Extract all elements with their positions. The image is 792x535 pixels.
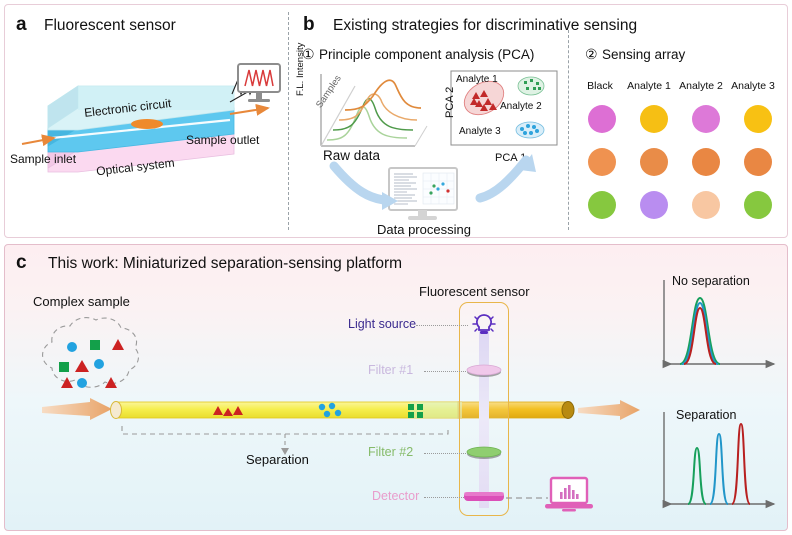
figure-root: a Fluorescent sensor xyxy=(0,0,792,535)
filter-2-label: Filter #2 xyxy=(368,445,413,459)
panel-c-title: This work: Miniaturized separation-sensi… xyxy=(48,255,402,273)
strategy-2-number: ② xyxy=(585,46,598,63)
array-dot-r1c3 xyxy=(744,148,772,176)
array-col-head-0: Black xyxy=(577,80,623,92)
raw-plot-ylabel: F.L. Intensity xyxy=(295,43,306,96)
array-col-head-3: Analyte 3 xyxy=(727,80,779,92)
array-dot-r1c2 xyxy=(692,148,720,176)
panel-b-title: Existing strategies for discriminative s… xyxy=(333,17,637,35)
array-dot-r1c1 xyxy=(640,148,668,176)
array-dot-r0c1 xyxy=(640,105,668,133)
chart-separation-title: Separation xyxy=(676,408,736,422)
panel-b-inner-divider xyxy=(568,30,569,230)
capillary-svg xyxy=(110,398,580,424)
inlet-flow-arrow xyxy=(42,398,112,424)
filter-1-disc-icon xyxy=(464,362,504,380)
array-dot-r0c3 xyxy=(744,105,772,133)
panel-a-label: a xyxy=(16,14,27,36)
pca-ylabel: PCA 2 xyxy=(444,87,456,118)
strategy-1-name: Principle component analysis (PCA) xyxy=(319,47,534,62)
fluorescent-sensor-title: Fluorescent sensor xyxy=(419,284,530,299)
no-separation-svg xyxy=(648,272,784,382)
filter-2-lead xyxy=(424,453,466,454)
array-col-head-2: Analyte 2 xyxy=(675,80,727,92)
filter-1-lead xyxy=(424,371,466,372)
pca-cluster-label-1: Analyte 1 xyxy=(456,74,498,85)
laptop-chart-icon xyxy=(544,476,594,514)
array-dot-r2c2 xyxy=(692,191,720,219)
panel-a-title: Fluorescent sensor xyxy=(44,17,176,35)
filter-1-label: Filter #1 xyxy=(368,363,413,377)
array-dot-r1c0 xyxy=(588,148,616,176)
panel-c-label: c xyxy=(16,252,27,274)
pca-cluster-label-2: Analyte 2 xyxy=(500,101,542,112)
light-source-label: Light source xyxy=(348,317,416,331)
filter-2-disc-icon xyxy=(464,444,504,462)
panel-ab-divider xyxy=(288,12,289,230)
data-processing-caption: Data processing xyxy=(377,222,471,237)
light-bulb-icon xyxy=(470,312,498,338)
chart-separation xyxy=(648,404,784,524)
panel-b-label: b xyxy=(303,14,315,36)
monitor-signal-icon xyxy=(236,62,284,106)
panel-a-inlet-label: Sample inlet xyxy=(10,152,76,166)
detector-label: Detector xyxy=(372,489,419,503)
sensor-optical-path xyxy=(475,330,493,508)
raw-data-svg xyxy=(303,70,433,160)
array-dot-r2c0 xyxy=(588,191,616,219)
sensing-array-grid xyxy=(570,100,785,230)
array-col-head-1: Analyte 1 xyxy=(623,80,675,92)
outlet-flow-arrow xyxy=(578,400,640,424)
separation-svg xyxy=(648,404,784,524)
array-dot-r2c3 xyxy=(744,191,772,219)
detector-lead xyxy=(424,497,464,498)
separation-label: Separation xyxy=(246,452,309,467)
detector-bar-icon xyxy=(462,490,506,504)
chart-no-separation xyxy=(648,272,784,382)
pca-cluster-label-3: Analyte 3 xyxy=(459,126,501,137)
capillary-tube xyxy=(110,398,580,424)
complex-sample-label: Complex sample xyxy=(33,294,130,309)
raw-data-plot xyxy=(303,70,433,160)
complex-sample-cloud xyxy=(24,312,164,407)
detector-laptop-link xyxy=(506,495,548,501)
panel-a-outlet-label: Sample outlet xyxy=(186,133,259,147)
array-dot-r2c1 xyxy=(640,191,668,219)
light-source-lead xyxy=(416,325,468,326)
strategy-2-name: Sensing array xyxy=(602,47,685,62)
array-dot-r0c2 xyxy=(692,105,720,133)
array-dot-r0c0 xyxy=(588,105,616,133)
chart-no-separation-title: No separation xyxy=(672,274,750,288)
cloud-svg xyxy=(24,312,164,407)
processing-arrows xyxy=(330,158,560,218)
